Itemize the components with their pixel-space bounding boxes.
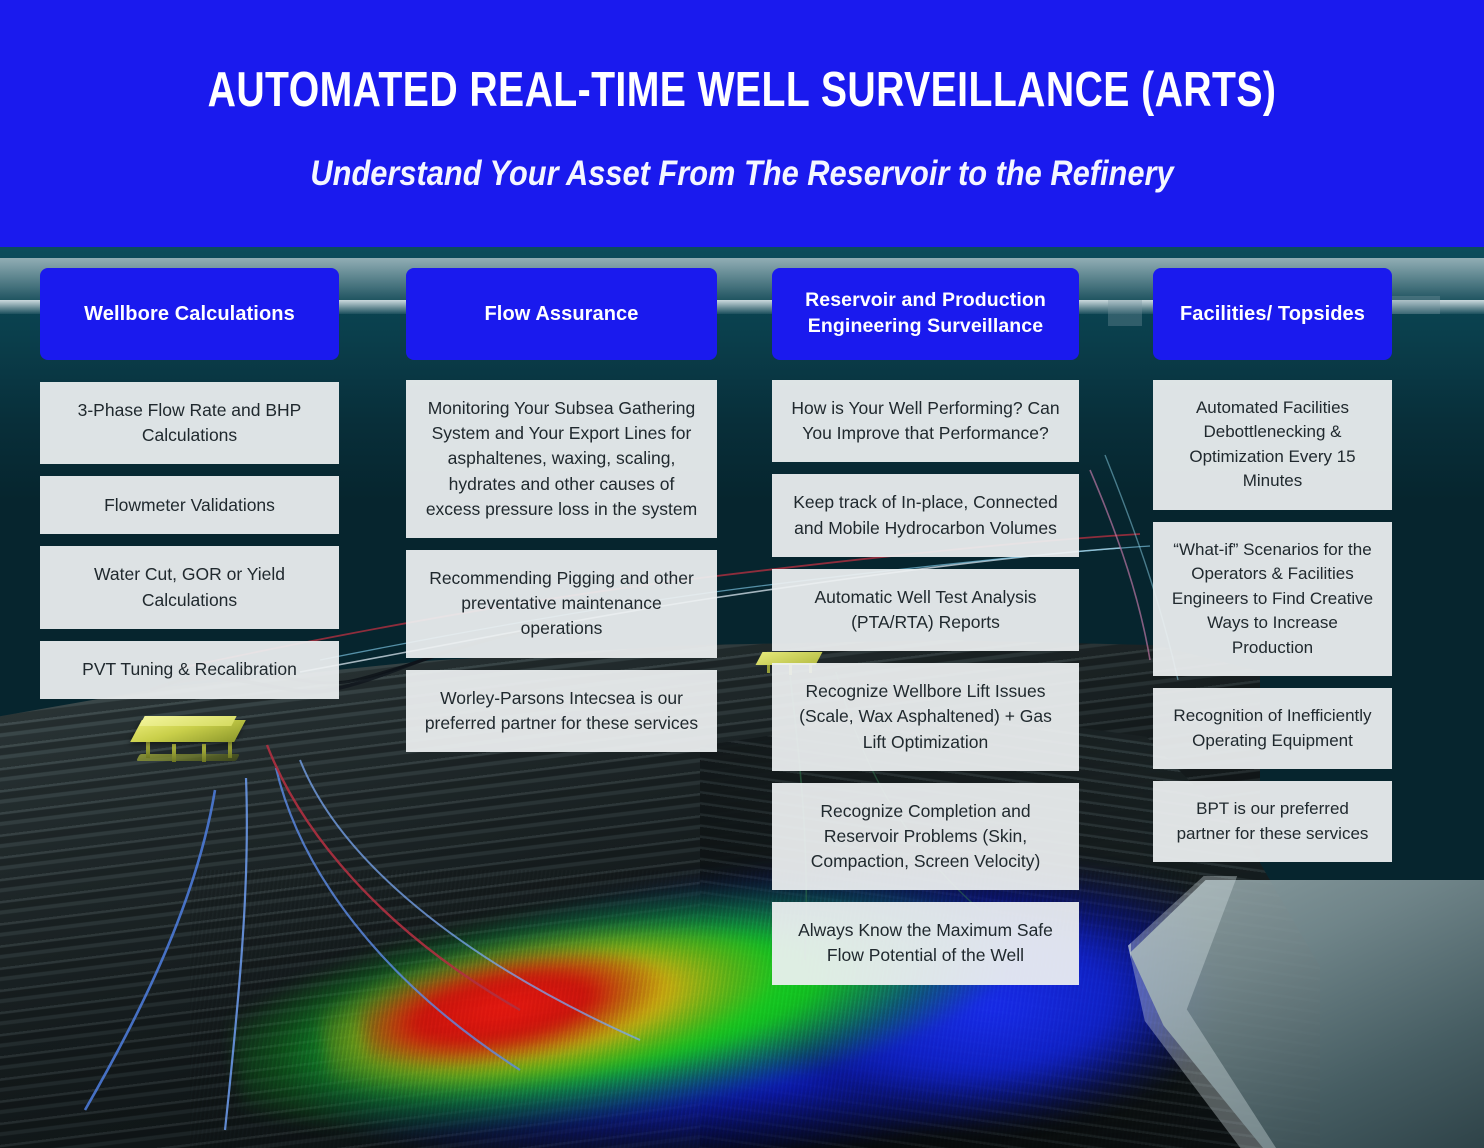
column-header-flow-assurance[interactable]: Flow Assurance xyxy=(406,268,717,360)
list-item[interactable]: Recognize Wellbore Lift Issues (Scale, W… xyxy=(772,663,1079,771)
list-item[interactable]: Flowmeter Validations xyxy=(40,476,339,534)
list-item[interactable]: Recommending Pigging and other preventat… xyxy=(406,550,717,658)
header-banner: AUTOMATED REAL-TIME WELL SURVEILLANCE (A… xyxy=(0,0,1484,247)
column-header-reservoir-production-engineering[interactable]: Reservoir and Production Engineering Sur… xyxy=(772,268,1079,360)
card-list: How is Your Well Performing? Can You Imp… xyxy=(772,380,1079,997)
column-header-facilities-topsides[interactable]: Facilities/ Topsides xyxy=(1153,268,1392,360)
page-title: AUTOMATED REAL-TIME WELL SURVEILLANCE (A… xyxy=(148,62,1335,118)
list-item[interactable]: 3-Phase Flow Rate and BHP Calculations xyxy=(40,382,339,464)
list-item[interactable]: Water Cut, GOR or Yield Calculations xyxy=(40,546,339,628)
list-item[interactable]: Monitoring Your Subsea Gathering System … xyxy=(406,380,717,538)
list-item[interactable]: Worley-Parsons Intecsea is our preferred… xyxy=(406,670,717,752)
column-facilities-topsides: Facilities/ Topsides Automated Facilitie… xyxy=(1153,268,1392,874)
list-item[interactable]: Keep track of In-place, Connected and Mo… xyxy=(772,474,1079,556)
infographic-poster: AUTOMATED REAL-TIME WELL SURVEILLANCE (A… xyxy=(0,0,1484,1148)
list-item[interactable]: BPT is our preferred partner for these s… xyxy=(1153,781,1392,862)
column-reservoir-production-engineering: Reservoir and Production Engineering Sur… xyxy=(772,268,1079,997)
column-header-wellbore-calculations[interactable]: Wellbore Calculations xyxy=(40,268,339,360)
list-item[interactable]: PVT Tuning & Recalibration xyxy=(40,641,339,699)
card-list: Monitoring Your Subsea Gathering System … xyxy=(406,380,717,764)
list-item[interactable]: Automated Facilities Debottlenecking & O… xyxy=(1153,380,1392,510)
column-flow-assurance: Flow Assurance Monitoring Your Subsea Ga… xyxy=(406,268,717,764)
list-item[interactable]: Always Know the Maximum Safe Flow Potent… xyxy=(772,902,1079,984)
list-item[interactable]: Recognition of Inefficiently Operating E… xyxy=(1153,688,1392,769)
card-list: Automated Facilities Debottlenecking & O… xyxy=(1153,380,1392,874)
list-item[interactable]: Recognize Completion and Reservoir Probl… xyxy=(772,783,1079,891)
list-item[interactable]: How is Your Well Performing? Can You Imp… xyxy=(772,380,1079,462)
card-list: 3-Phase Flow Rate and BHP Calculations F… xyxy=(40,382,339,711)
list-item[interactable]: “What-if” Scenarios for the Operators & … xyxy=(1153,522,1392,676)
list-item[interactable]: Automatic Well Test Analysis (PTA/RTA) R… xyxy=(772,569,1079,651)
page-subtitle: Understand Your Asset From The Reservoir… xyxy=(89,154,1395,194)
column-wellbore-calculations: Wellbore Calculations 3-Phase Flow Rate … xyxy=(40,268,339,711)
